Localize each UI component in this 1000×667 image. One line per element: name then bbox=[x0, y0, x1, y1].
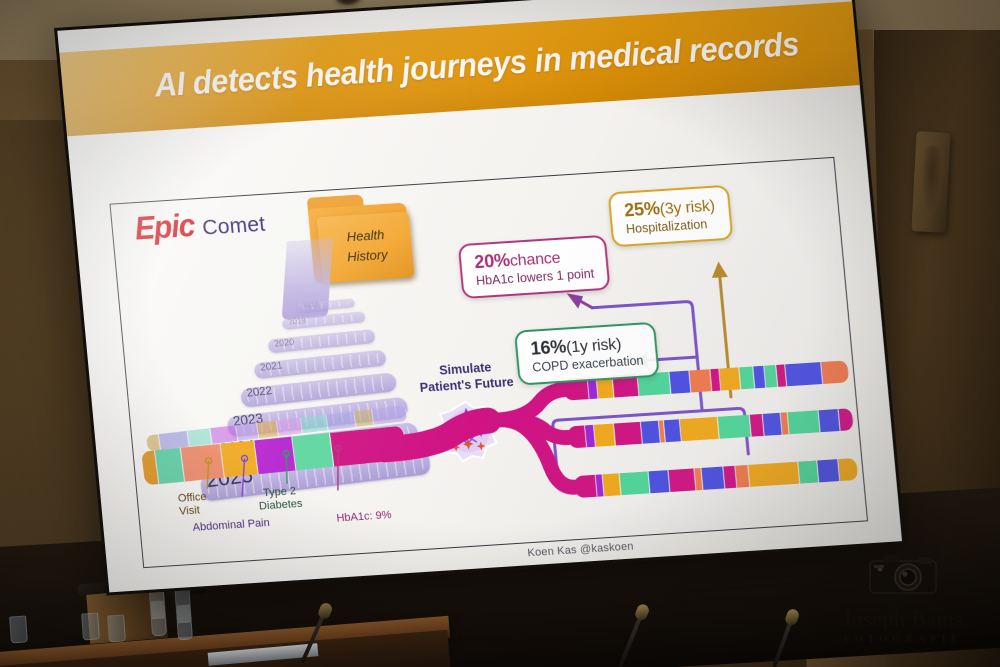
timeline-tag-leaders bbox=[111, 158, 870, 569]
tag-line2: Diabetes bbox=[259, 498, 304, 514]
diagram-card: Epic Comet Health History bbox=[109, 157, 868, 568]
drinking-glass bbox=[107, 614, 126, 642]
photo-of-presentation-screen: AI detects health journeys in medical re… bbox=[0, 0, 1000, 667]
tag-office-visit: Office Visit bbox=[177, 491, 208, 520]
wall-speaker bbox=[911, 131, 950, 233]
projection-screen: AI detects health journeys in medical re… bbox=[54, 0, 905, 596]
camera-icon bbox=[818, 551, 988, 604]
drinking-glass bbox=[81, 612, 100, 640]
tag-line2: Visit bbox=[179, 504, 209, 519]
watermark-subtitle: FOTOGRAFIE bbox=[818, 633, 988, 645]
tag-type-2-diabetes: Type 2 Diabetes bbox=[257, 485, 303, 515]
bottle-label bbox=[151, 601, 165, 620]
screen-frame: AI detects health journeys in medical re… bbox=[54, 0, 905, 596]
tag-line1: Office bbox=[177, 491, 207, 506]
watermark-name: Joseph Bams bbox=[818, 606, 988, 632]
drinking-glass bbox=[9, 615, 28, 643]
slide: AI detects health journeys in medical re… bbox=[57, 0, 902, 592]
photographer-watermark: Joseph Bams FOTOGRAFIE bbox=[818, 551, 988, 645]
bottle-label bbox=[177, 605, 191, 624]
